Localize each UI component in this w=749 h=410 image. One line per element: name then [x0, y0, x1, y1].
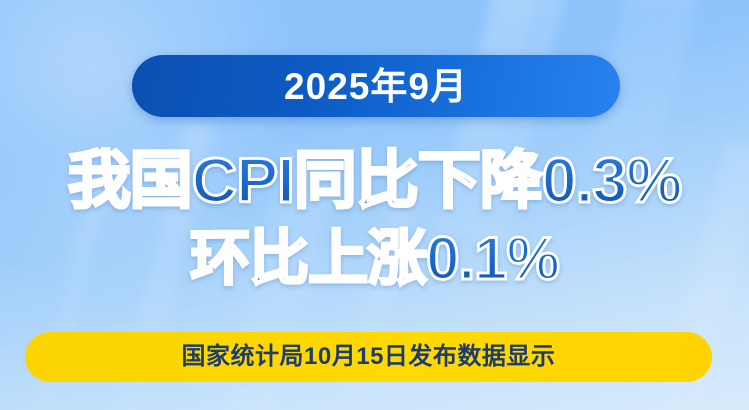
- source-banner: 国家统计局10月15日发布数据显示: [25, 332, 712, 382]
- headline-line-yoy: 我国CPI同比下降0.3%: [0, 142, 749, 221]
- cpi-infographic-poster: 2025年9月 我国CPI同比下降0.3% 环比上涨0.1% 国家统计局10月1…: [0, 0, 749, 410]
- headline-line-mom: 环比上涨0.1%: [0, 221, 749, 297]
- date-badge-label: 2025年9月: [284, 68, 468, 105]
- date-badge: 2025年9月: [132, 55, 620, 117]
- source-banner-label: 国家统计局10月15日发布数据显示: [182, 345, 556, 369]
- headline: 我国CPI同比下降0.3% 环比上涨0.1%: [0, 142, 749, 297]
